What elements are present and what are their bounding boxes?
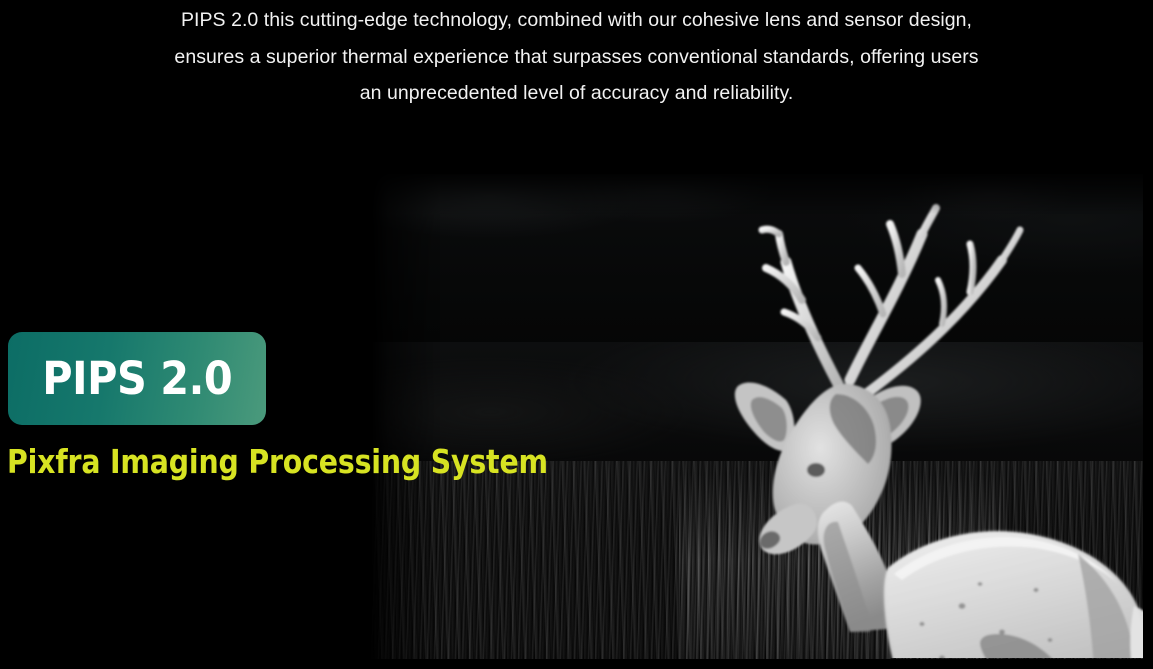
intro-paragraph: PIPS 2.0 this cutting-edge technology, c… [0, 0, 1153, 112]
intro-line-1: PIPS 2.0 this cutting-edge technology, c… [0, 2, 1153, 39]
page-subtitle: Pixfra Imaging Processing System [7, 440, 548, 484]
thermal-image [370, 174, 1143, 669]
pips-badge: PIPS 2.0 [8, 332, 266, 425]
deer-silhouette [550, 188, 1143, 658]
thermal-bottom-fade [370, 659, 1143, 669]
pips-badge-label: PIPS 2.0 [42, 356, 232, 401]
intro-line-2: ensures a superior thermal experience th… [0, 39, 1153, 76]
intro-line-3: an unprecedented level of accuracy and r… [0, 75, 1153, 112]
deer-icon [550, 188, 1143, 658]
